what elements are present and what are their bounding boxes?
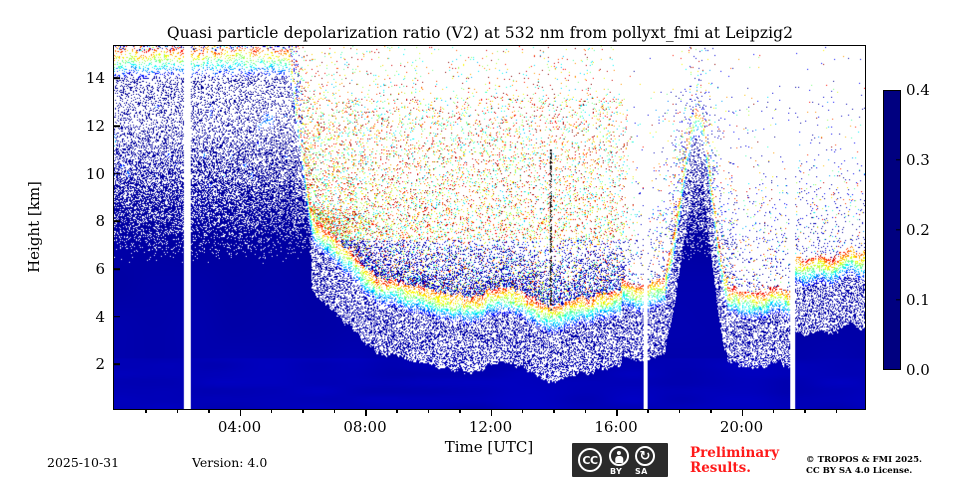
y-tick-label: 8 bbox=[95, 212, 105, 230]
colorbar-tick-mark bbox=[896, 159, 901, 160]
colorbar-tick-mark bbox=[896, 299, 901, 300]
y-tick-mark bbox=[114, 364, 120, 366]
colorbar-tick-label: 0.2 bbox=[906, 221, 930, 239]
x-axis-minor-tick bbox=[334, 409, 336, 413]
footer-version: Version: 4.0 bbox=[192, 455, 267, 470]
cc-sa-label: SA bbox=[635, 467, 648, 476]
y-tick-label: 4 bbox=[95, 308, 105, 326]
preliminary-line-1: Preliminary bbox=[690, 446, 779, 461]
x-axis-minor-tick bbox=[710, 409, 712, 413]
x-axis-minor-tick bbox=[647, 409, 649, 413]
page-title: Quasi particle depolarization ratio (V2)… bbox=[0, 24, 960, 42]
copyright-notice: © TROPOS & FMI 2025. CC BY SA 4.0 Licens… bbox=[806, 455, 922, 477]
preliminary-line-2: Results. bbox=[690, 461, 779, 476]
y-tick-label: 14 bbox=[86, 69, 105, 87]
footer-date: 2025-10-31 bbox=[47, 455, 119, 470]
x-tick-label: 08:00 bbox=[343, 418, 386, 436]
x-axis-minor-tick bbox=[773, 409, 775, 413]
x-axis-minor-tick bbox=[804, 409, 806, 413]
y-axis-label: Height [km] bbox=[25, 181, 43, 273]
x-axis-minor-tick bbox=[459, 409, 461, 413]
x-tick-label: 20:00 bbox=[720, 418, 763, 436]
x-axis-minor-tick bbox=[145, 409, 147, 413]
colorbar-tick-label: 0.3 bbox=[906, 151, 930, 169]
figure-canvas: Quasi particle depolarization ratio (V2)… bbox=[0, 0, 960, 480]
x-axis-minor-tick bbox=[679, 409, 681, 413]
creative-commons-badge[interactable]: CC ↻ BY SA bbox=[572, 443, 668, 477]
colorbar[interactable]: 0.00.10.20.30.4 bbox=[883, 90, 901, 370]
y-tick-label: 10 bbox=[86, 165, 105, 183]
x-axis-minor-tick bbox=[302, 409, 304, 413]
colorbar-tick-label: 0.1 bbox=[906, 291, 930, 309]
y-tick-mark bbox=[114, 77, 120, 79]
x-axis-minor-tick bbox=[553, 409, 555, 413]
y-tick-mark bbox=[114, 173, 120, 175]
colorbar-tick-label: 0.4 bbox=[906, 81, 930, 99]
x-axis-tick bbox=[491, 409, 493, 416]
y-tick-label: 2 bbox=[95, 355, 105, 373]
x-axis-minor-tick bbox=[836, 409, 838, 413]
x-axis-minor-tick bbox=[585, 409, 587, 413]
x-axis-minor-tick bbox=[522, 409, 524, 413]
x-axis-minor-tick bbox=[271, 409, 273, 413]
copyright-line-1: © TROPOS & FMI 2025. bbox=[806, 455, 922, 466]
x-axis-tick bbox=[616, 409, 618, 416]
x-tick-label: 16:00 bbox=[594, 418, 637, 436]
y-tick-mark bbox=[114, 268, 120, 270]
x-axis-tick bbox=[742, 409, 744, 416]
cc-sa-recycle-icon: ↻ bbox=[635, 446, 655, 466]
x-axis-tick bbox=[365, 409, 367, 416]
x-tick-label: 04:00 bbox=[218, 418, 261, 436]
quicklook-heatmap bbox=[114, 46, 865, 409]
y-tick-mark bbox=[114, 125, 120, 127]
cc-by-label: BY bbox=[610, 467, 622, 476]
copyright-line-2: CC BY SA 4.0 License. bbox=[806, 466, 922, 477]
x-axis-minor-tick bbox=[208, 409, 210, 413]
colorbar-tick-mark bbox=[896, 229, 901, 230]
x-axis-minor-tick bbox=[428, 409, 430, 413]
x-axis-label: Time [UTC] bbox=[445, 438, 534, 456]
x-axis-minor-tick bbox=[396, 409, 398, 413]
y-tick-mark bbox=[114, 221, 120, 223]
y-tick-mark bbox=[114, 316, 120, 318]
colorbar-tick-label: 0.0 bbox=[906, 361, 930, 379]
preliminary-results-notice: Preliminary Results. bbox=[690, 446, 779, 476]
x-axis-tick bbox=[240, 409, 242, 416]
x-tick-label: 12:00 bbox=[469, 418, 512, 436]
cc-by-person-icon bbox=[609, 446, 629, 466]
y-tick-label: 12 bbox=[86, 117, 105, 135]
y-tick-label: 6 bbox=[95, 260, 105, 278]
x-axis-minor-tick bbox=[177, 409, 179, 413]
plot-axes[interactable]: 246810121404:0008:0012:0016:0020:00 bbox=[113, 45, 866, 410]
cc-icon: CC bbox=[578, 448, 602, 472]
